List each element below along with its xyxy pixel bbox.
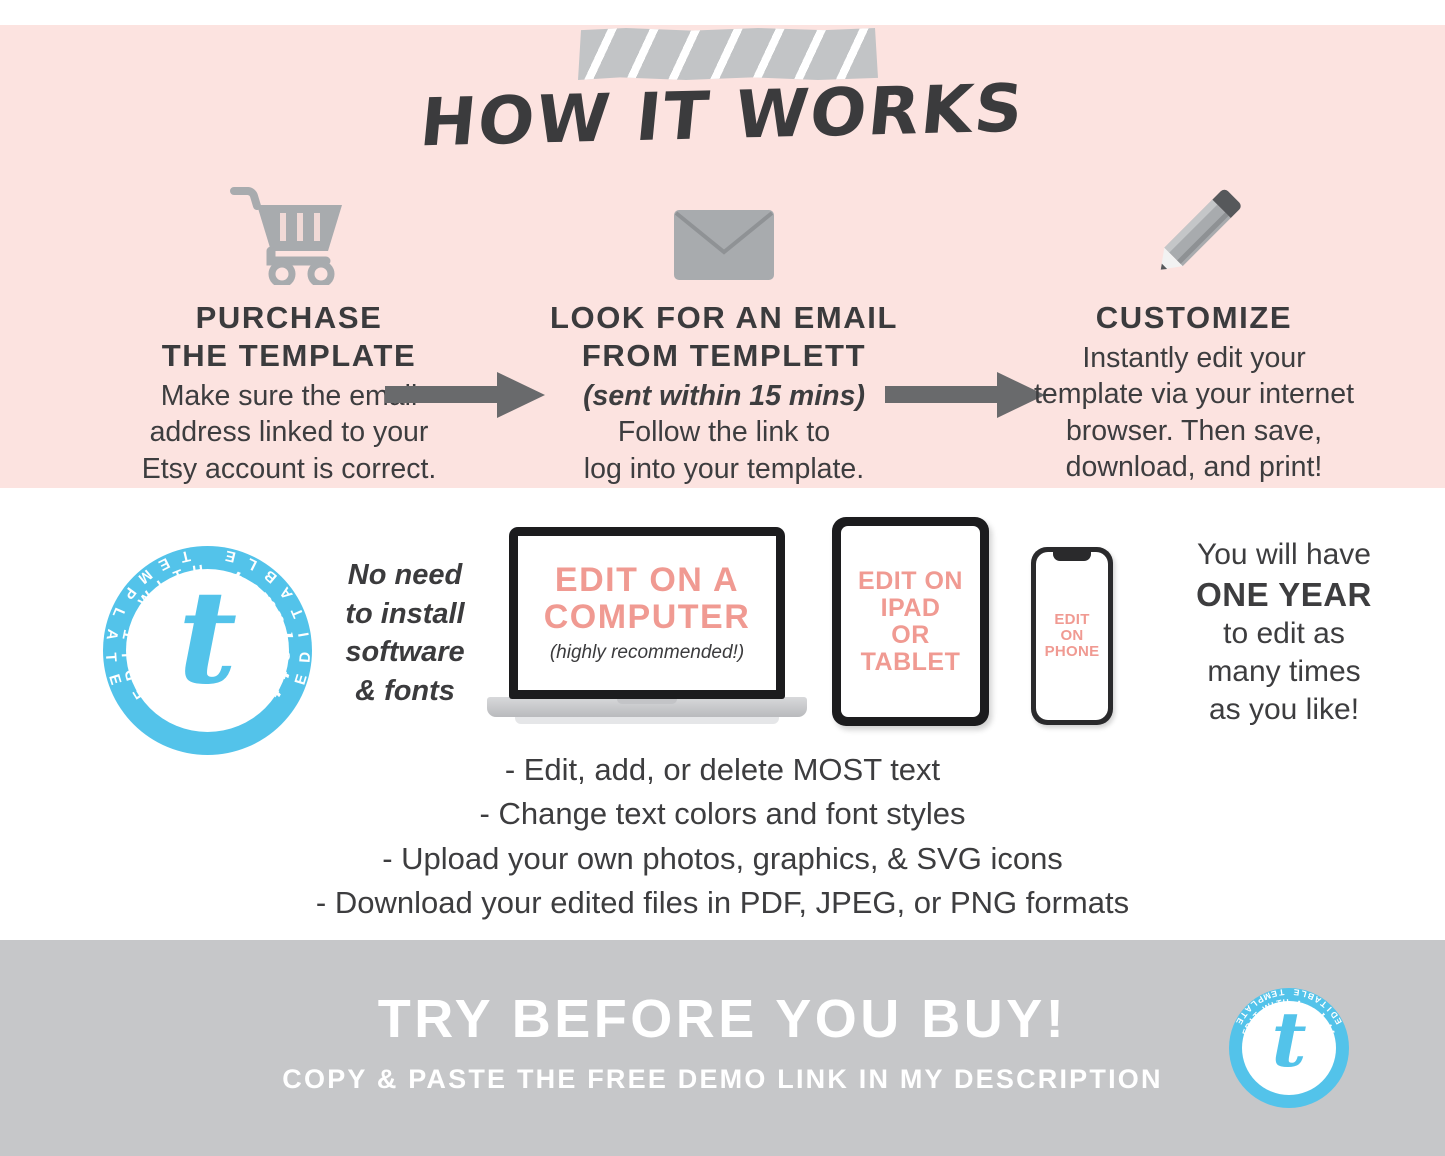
phone-title-line3: PHONE [1045,644,1100,660]
step-body-line3: log into your template. [490,451,958,487]
washi-tape-graphic [578,28,878,80]
pencil-icon [960,180,1428,285]
step-body-line4: download, and print! [960,449,1428,485]
laptop-title-line2: COMPUTER [544,599,751,636]
step-heading: LOOK FOR AN EMAIL FROM TEMPLETT [490,299,958,375]
steps-section: HOW IT WORKS PUR [0,25,1445,488]
step-body-line3: browser. Then save, [960,413,1428,449]
phone-title-line2: ON [1045,628,1100,644]
badge-letter: t [103,574,312,702]
no-need-line1: No need [330,556,480,595]
one-year-line1: You will have [1125,536,1443,574]
step-email: LOOK FOR AN EMAIL FROM TEMPLETT (sent wi… [490,180,958,487]
phone-title-line1: EDIT [1045,612,1100,628]
phone-screen-title: EDIT ON PHONE [1045,612,1100,661]
step-body-line2: address linked to your [55,414,523,450]
step-body-line1: Instantly edit your [960,340,1428,376]
envelope-icon [490,180,958,285]
step-heading-line1: PURCHASE [55,299,523,337]
laptop-mockup: EDIT ON A COMPUTER (highly recommended!) [487,527,807,732]
tablet-title-line2: IPAD [858,595,963,622]
tablet-title-line3: OR [858,622,963,649]
laptop-title-line1: EDIT ON A [544,562,751,599]
badge-letter: t [1229,1002,1349,1078]
one-year-line3: to edit as [1125,615,1443,653]
step-body-line2: template via your internet [960,376,1428,412]
phone-mockup: EDIT ON PHONE [1031,547,1113,725]
templett-badge-footer: EDIT WITH templett EDITABLE TEMPLATE t [1229,988,1349,1108]
step-heading-line1: LOOK FOR AN EMAIL [490,299,958,337]
no-need-line2: to install [330,595,480,634]
steps-row: PURCHASE THE TEMPLATE Make sure the emai… [0,180,1445,490]
tablet-title-line4: TABLET [858,649,963,676]
list-item: - Change text colors and font styles [0,792,1445,836]
list-item: - Edit, add, or delete MOST text [0,748,1445,792]
one-year-emphasis: ONE YEAR [1125,574,1443,616]
step-heading: CUSTOMIZE [960,299,1428,337]
how-it-works-infographic: HOW IT WORKS PUR [0,0,1445,1156]
step-body-line3: Etsy account is correct. [55,451,523,487]
no-need-text: No need to install software & fonts [330,556,480,710]
step-heading-line2: THE TEMPLATE [55,337,523,375]
laptop-screen-title: EDIT ON A COMPUTER [544,562,751,635]
page-title: HOW IT WORKS [0,59,1445,171]
step-heading-line2: FROM TEMPLETT [490,337,958,375]
list-item: - Download your edited files in PDF, JPE… [0,881,1445,925]
step-body-line2: Follow the link to [490,414,958,450]
phone-notch [1053,552,1091,561]
one-year-text: You will have ONE YEAR to edit as many t… [1125,536,1443,729]
step-body: Instantly edit your template via your in… [960,340,1428,486]
tablet-mockup: EDIT ON IPAD OR TABLET [832,517,989,726]
laptop-screen-subtitle: (highly recommended!) [550,642,744,664]
shopping-cart-icon [55,180,523,285]
step-heading-line1: CUSTOMIZE [960,299,1428,337]
feature-list: - Edit, add, or delete MOST text - Chang… [0,748,1445,925]
step-customize: CUSTOMIZE Instantly edit your template v… [960,180,1428,486]
no-need-line4: & fonts [330,672,480,711]
step-heading: PURCHASE THE TEMPLATE [55,299,523,375]
tablet-screen-title: EDIT ON IPAD OR TABLET [858,568,963,676]
one-year-line4: many times [1125,653,1443,691]
no-need-line3: software [330,633,480,672]
step-purchase: PURCHASE THE TEMPLATE Make sure the emai… [55,180,523,487]
list-item: - Upload your own photos, graphics, & SV… [0,837,1445,881]
one-year-line5: as you like! [1125,691,1443,729]
tablet-title-line1: EDIT ON [858,568,963,595]
templett-badge: EDIT WITH templett EDITABLE TEMPLATE t [103,546,312,755]
